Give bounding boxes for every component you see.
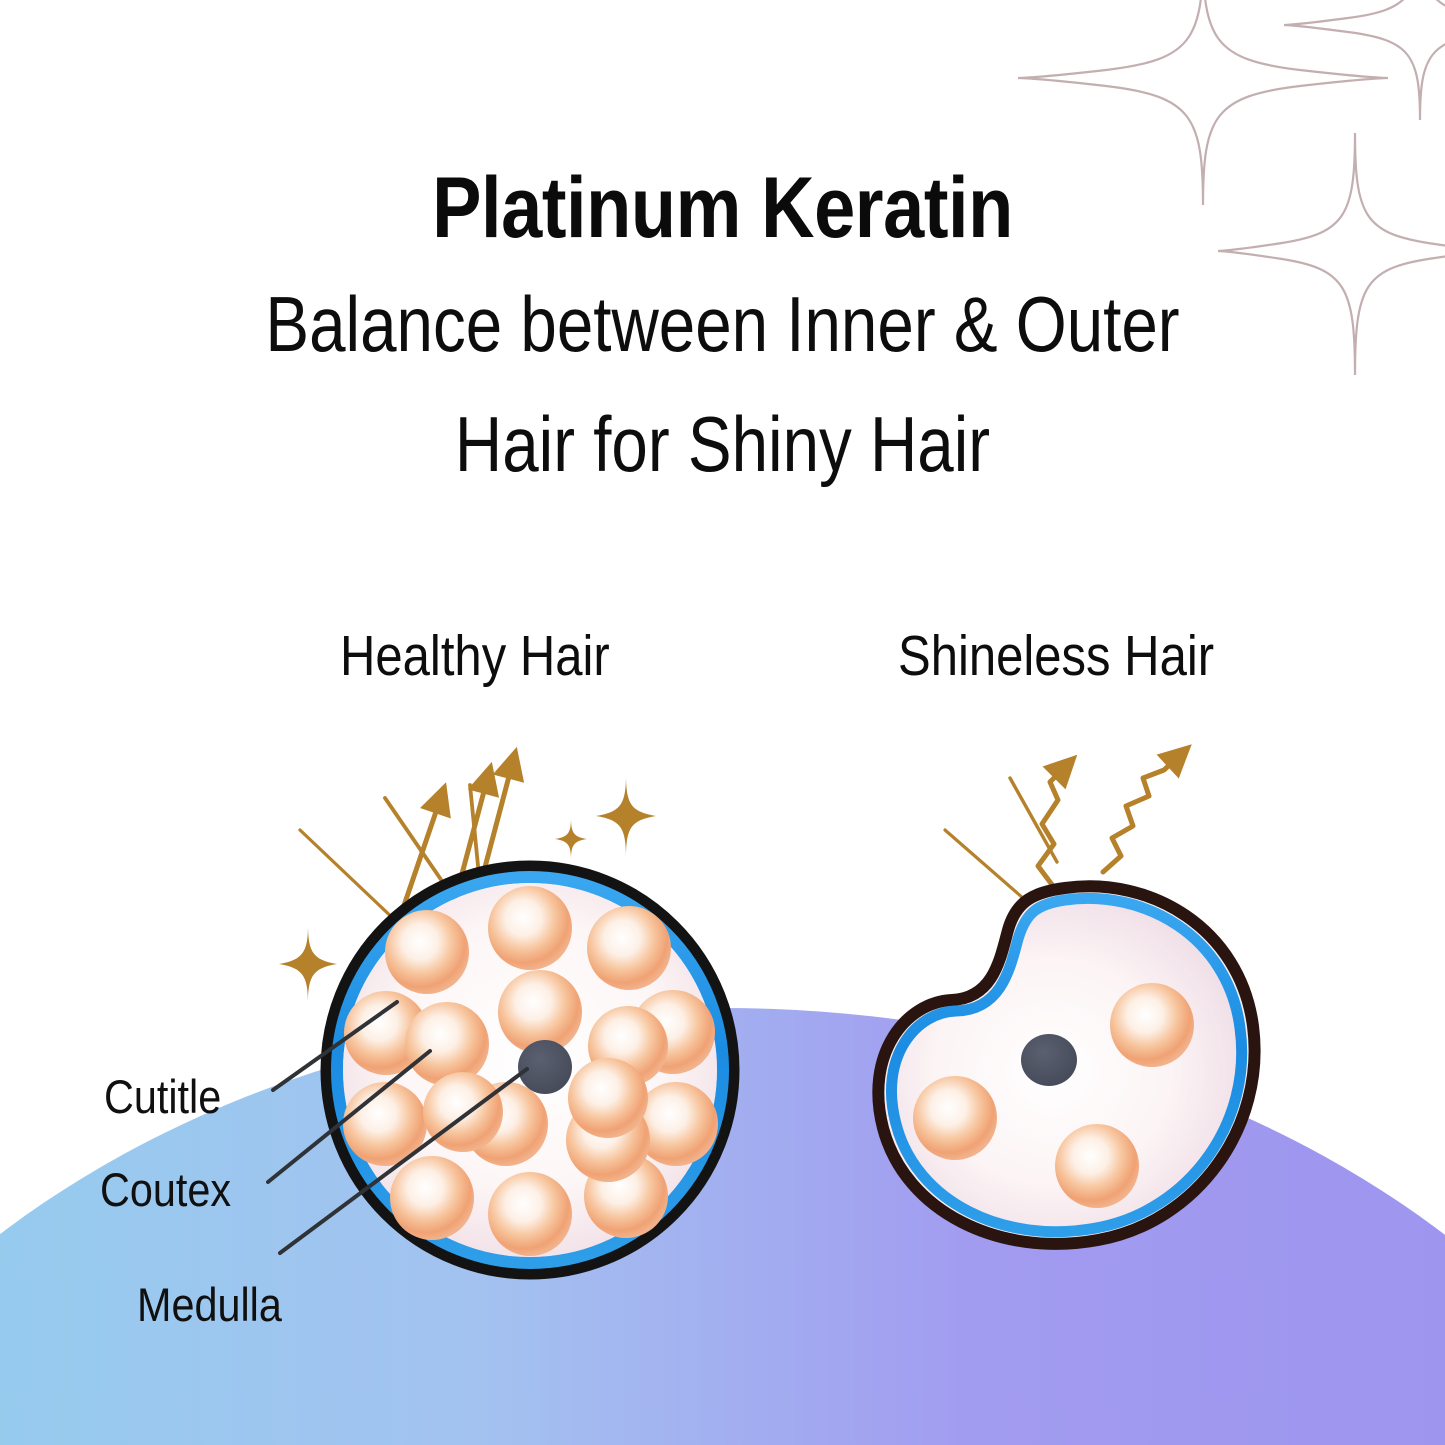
cortex-cell xyxy=(385,910,469,994)
annotation-label-cuticle: Cutitle xyxy=(104,1073,221,1120)
subtitle-line-2: Hair for Shiny Hair xyxy=(116,405,1330,483)
cortex-cell xyxy=(1110,983,1194,1067)
cortex-cell xyxy=(1055,1124,1139,1208)
cortex-cell xyxy=(568,1058,648,1138)
cortex-cell xyxy=(405,1002,489,1086)
gold-sparkle-icon-2 xyxy=(555,818,587,860)
cortex-cell xyxy=(390,1156,474,1240)
gold-sparkle-icon-1 xyxy=(596,775,656,857)
scattered-ray-2 xyxy=(1103,757,1178,872)
gold-sparkle-icon-3 xyxy=(279,925,337,1003)
healthy-hair-cross-section xyxy=(326,866,734,1274)
page-title: Platinum Keratin xyxy=(101,165,1344,251)
shineless-medulla xyxy=(1021,1034,1077,1086)
cortex-cell xyxy=(587,906,671,990)
annotation-label-medulla: Medulla xyxy=(137,1281,282,1328)
healthy-medulla xyxy=(518,1040,572,1094)
subtitle-line-1: Balance between Inner & Outer xyxy=(116,285,1330,363)
cortex-cell xyxy=(488,886,572,970)
panel-label-shineless-hair: Shineless Hair xyxy=(898,628,1214,685)
shineless-hair-cross-section xyxy=(878,886,1254,1244)
infographic-canvas: Platinum Keratin Balance between Inner &… xyxy=(0,0,1445,1445)
cortex-cell xyxy=(488,1172,572,1256)
panel-label-healthy-hair: Healthy Hair xyxy=(340,628,610,685)
incoming-ray-1 xyxy=(300,830,398,923)
cortex-cell xyxy=(913,1076,997,1160)
annotation-label-cortex: Coutex xyxy=(100,1166,231,1213)
